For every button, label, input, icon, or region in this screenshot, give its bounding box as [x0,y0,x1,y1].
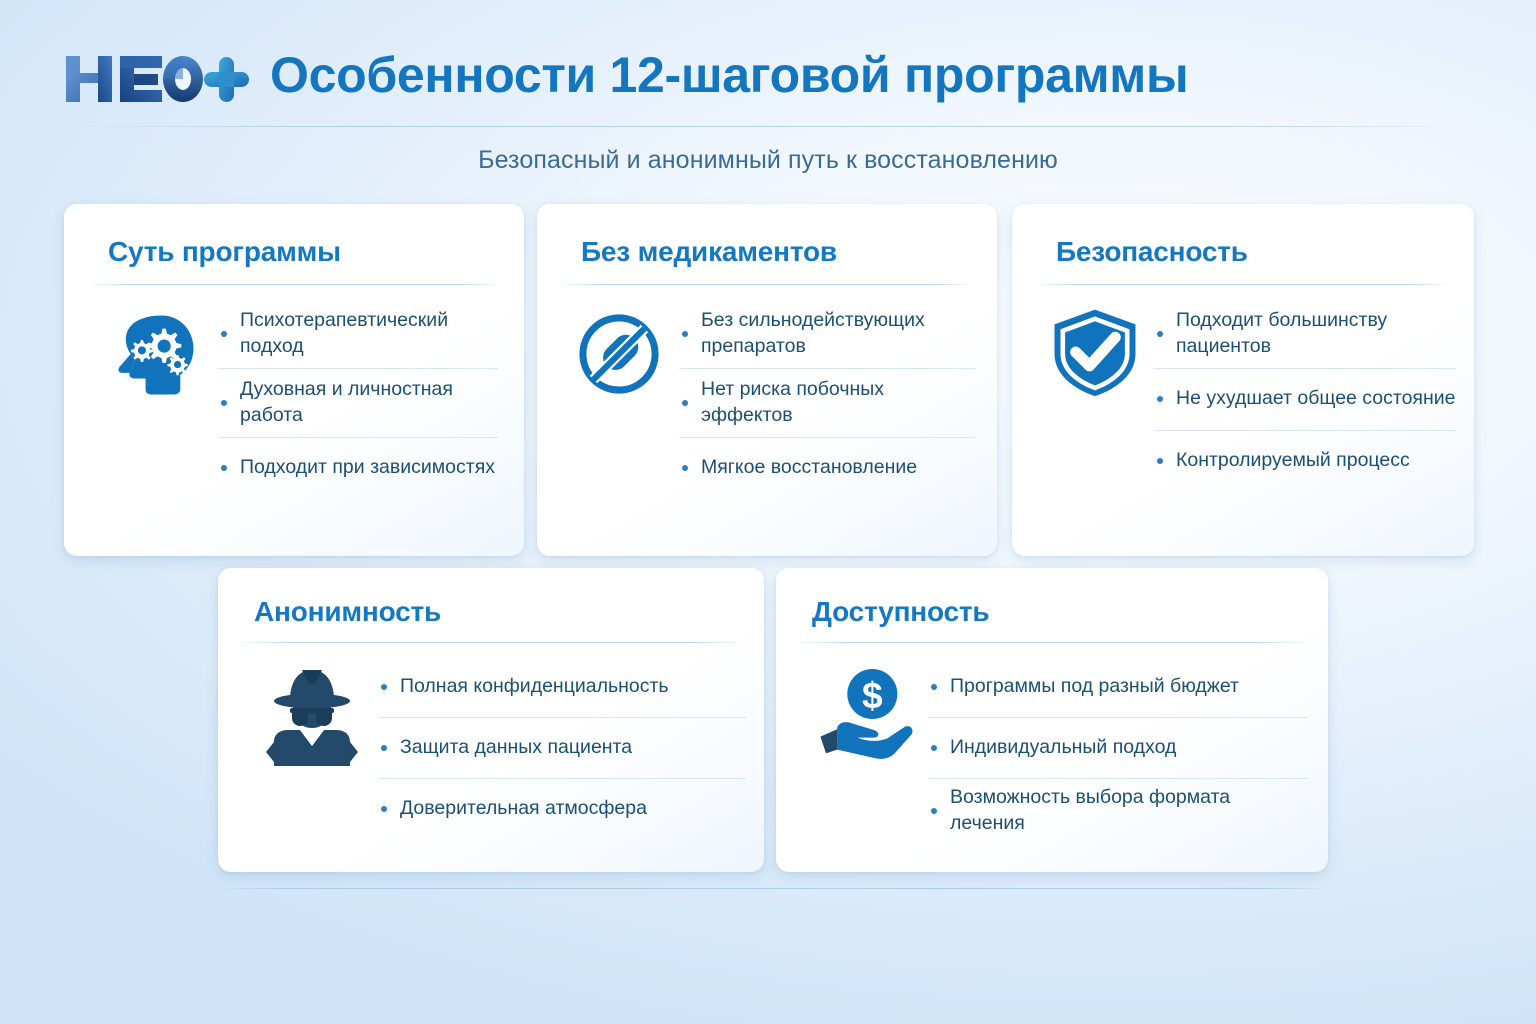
card-title: Анонимность [254,596,441,628]
card-title: Безопасность [1056,236,1248,268]
feature-card-essence[interactable]: Суть программы [64,204,524,556]
card-body: Психотерапевтический подход Духовная и л… [100,300,498,499]
bullet-text: Подходит большинству пациентов [1176,308,1456,360]
list-item: Полная конфиденциальность [378,656,746,717]
list-item: Мягкое восстановление [679,437,975,499]
card-body: Подходит большинству пациентов Не ухудша… [1044,300,1456,492]
bullet-text: Мягкое восстановление [701,455,917,481]
card-title: Без медикаментов [581,236,837,268]
svg-text:$: $ [862,674,883,716]
list-item: Контролируемый процесс [1154,430,1456,492]
no-pills-icon [567,300,671,398]
page-title: Особенности 12-шаговой программы [270,48,1188,102]
bullet-list: Без сильнодействующих препаратов Нет рис… [679,300,975,499]
bullet-text: Без сильнодействующих препаратов [701,308,975,360]
list-item: Возможность выбора формата лечения [928,778,1308,843]
bullet-text: Защита данных пациента [400,735,632,761]
bullet-text: Контролируемый процесс [1176,448,1410,474]
list-item: Нет риска побочных эффектов [679,368,975,437]
bullet-list: Программы под разный бюджет Индивидуальн… [928,656,1308,843]
card-body: $ Программы под разный бюджет Индивидуал… [808,656,1308,843]
card-title: Доступность [812,596,989,628]
card-title-divider [1040,284,1446,285]
bullet-text: Возможность выбора формата лечения [950,785,1308,837]
bullet-list: Подходит большинству пациентов Не ухудша… [1154,300,1456,492]
bullet-text: Подходит при зависимостях [240,455,495,481]
page-subtitle: Безопасный и анонимный путь к восстановл… [0,146,1536,175]
card-title-divider [242,642,740,643]
list-item: Подходит большинству пациентов [1154,300,1456,368]
bullet-list: Психотерапевтический подход Духовная и л… [218,300,498,499]
bottom-divider [216,888,1330,889]
list-item: Без сильнодействующих препаратов [679,300,975,368]
feature-card-no-medication[interactable]: Без медикаментов Без сильнодействующих п… [537,204,997,556]
feature-card-anonymity[interactable]: Анонимность [218,568,764,872]
bullet-text: Доверительная атмосфера [400,796,647,822]
bullet-text: Духовная и личностная работа [240,377,498,429]
bullet-text: Не ухудшает общее состояние [1176,386,1456,412]
feature-card-safety[interactable]: Безопасность Подходит большинству пациен… [1012,204,1474,556]
list-item: Подходит при зависимостях [218,437,498,499]
infographic-page: Особенности 12-шаговой программы Безопас… [0,0,1536,1024]
card-title-divider [565,284,969,285]
list-item: Психотерапевтический подход [218,300,498,368]
list-item: Доверительная атмосфера [378,778,746,839]
page-header: Особенности 12-шаговой программы [0,0,1536,127]
list-item: Защита данных пациента [378,717,746,778]
list-item: Программы под разный бюджет [928,656,1308,717]
card-body: Полная конфиденциальность Защита данных … [256,656,746,839]
card-body: Без сильнодействующих препаратов Нет рис… [567,300,975,499]
card-title-divider [92,284,496,285]
spy-incognito-icon [256,656,368,772]
bullet-text: Полная конфиденциальность [400,674,669,700]
list-item: Духовная и личностная работа [218,368,498,437]
list-item: Индивидуальный подход [928,717,1308,778]
bullet-text: Психотерапевтический подход [240,308,498,360]
bullet-text: Программы под разный бюджет [950,674,1239,700]
bullet-text: Индивидуальный подход [950,735,1176,761]
card-title-divider [800,642,1304,643]
shield-check-icon [1044,300,1146,398]
card-title: Суть программы [108,236,341,268]
neo-plus-logo [62,50,252,108]
bullet-text: Нет риска побочных эффектов [701,377,975,429]
hand-coin-icon: $ [808,656,920,762]
header-divider [60,126,1476,127]
head-gears-icon [100,300,208,402]
list-item: Не ухудшает общее состояние [1154,368,1456,430]
feature-card-affordability[interactable]: Доступность $ Программы под разный бюдже… [776,568,1328,872]
bullet-list: Полная конфиденциальность Защита данных … [378,656,746,839]
